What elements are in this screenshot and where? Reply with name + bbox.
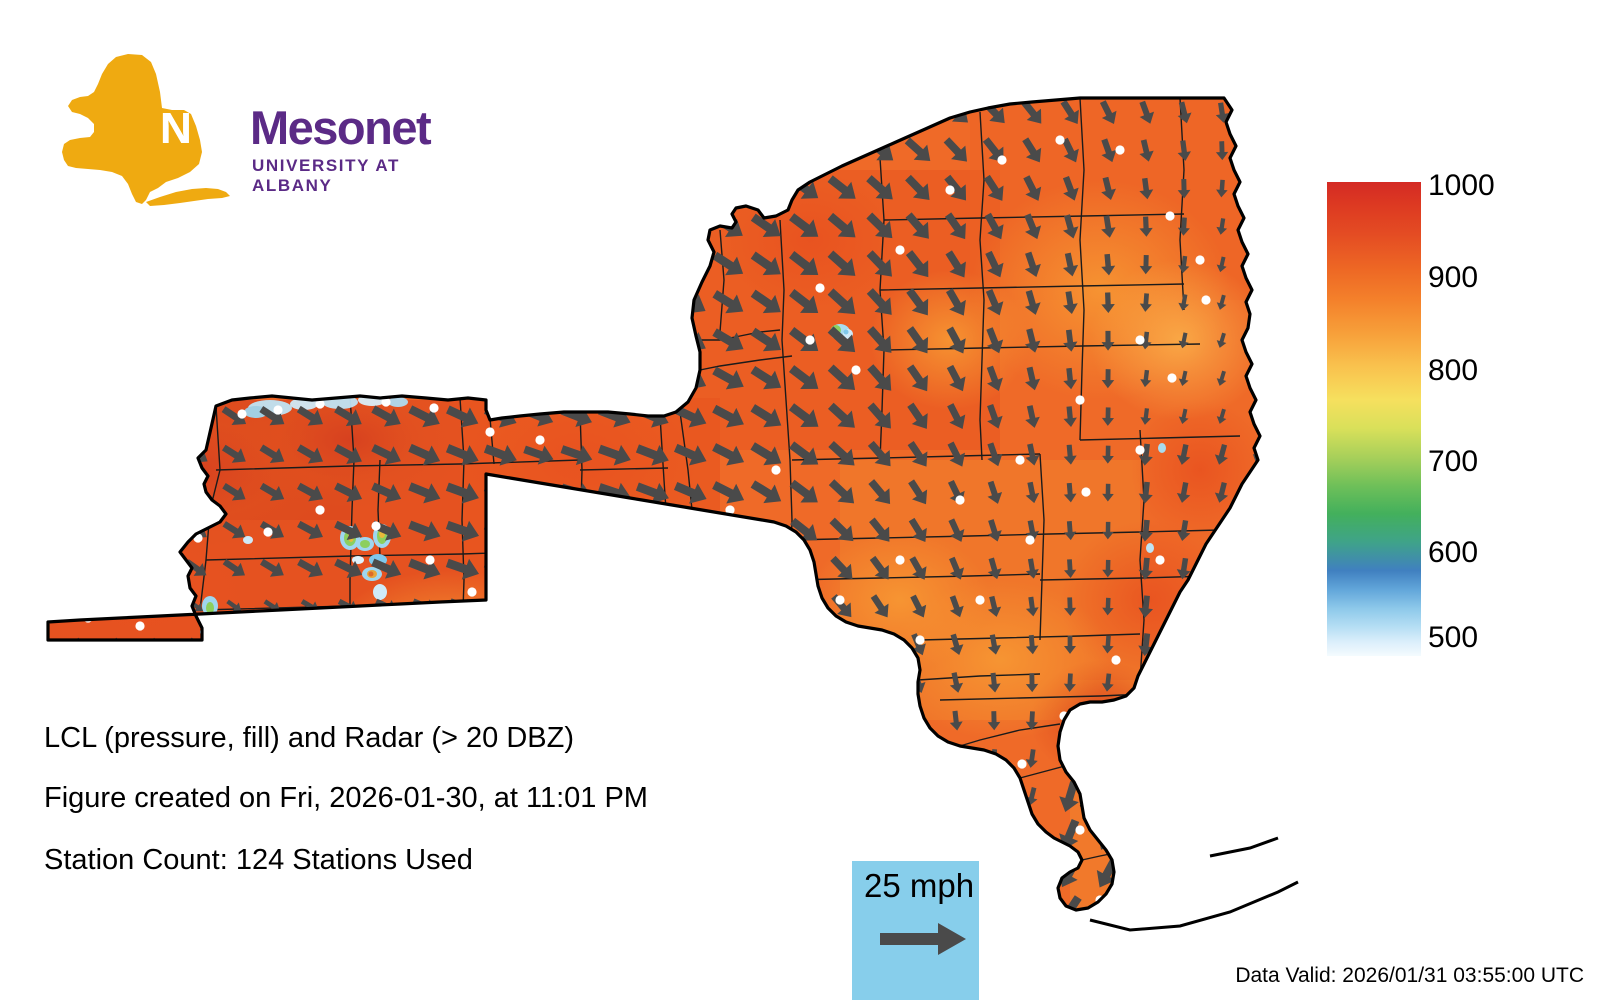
colorbar-tick-700: 700	[1428, 447, 1478, 477]
wind-speed-key: 25 mph	[852, 861, 979, 1000]
logo-university-text: UNIVERSITY AT ALBANY	[252, 156, 400, 196]
colorbar-tick-900: 900	[1428, 263, 1478, 293]
wind-key-label: 25 mph	[864, 867, 974, 905]
data-valid-timestamp: Data Valid: 2026/01/31 03:55:00 UTC	[1235, 964, 1584, 988]
colorbar-gradient	[1327, 182, 1421, 656]
wind-key-arrow-icon	[878, 919, 968, 959]
coastline	[1090, 838, 1298, 930]
station-count-text: Station Count: 124 Stations Used	[44, 844, 473, 877]
plot-title: LCL (pressure, fill) and Radar (> 20 DBZ…	[44, 722, 574, 755]
lcl-colorbar	[1327, 182, 1421, 656]
colorbar-tick-800: 800	[1428, 356, 1478, 386]
logo-mesonet-text: Mesonet	[250, 100, 430, 155]
colorbar-tick-500: 500	[1428, 623, 1478, 653]
logo-nys-text: NYS	[160, 104, 247, 154]
colorbar-tick-600: 600	[1428, 538, 1478, 568]
figure-created-text: Figure created on Fri, 2026-01-30, at 11…	[44, 782, 648, 815]
colorbar-tick-1000: 1000	[1428, 171, 1495, 201]
